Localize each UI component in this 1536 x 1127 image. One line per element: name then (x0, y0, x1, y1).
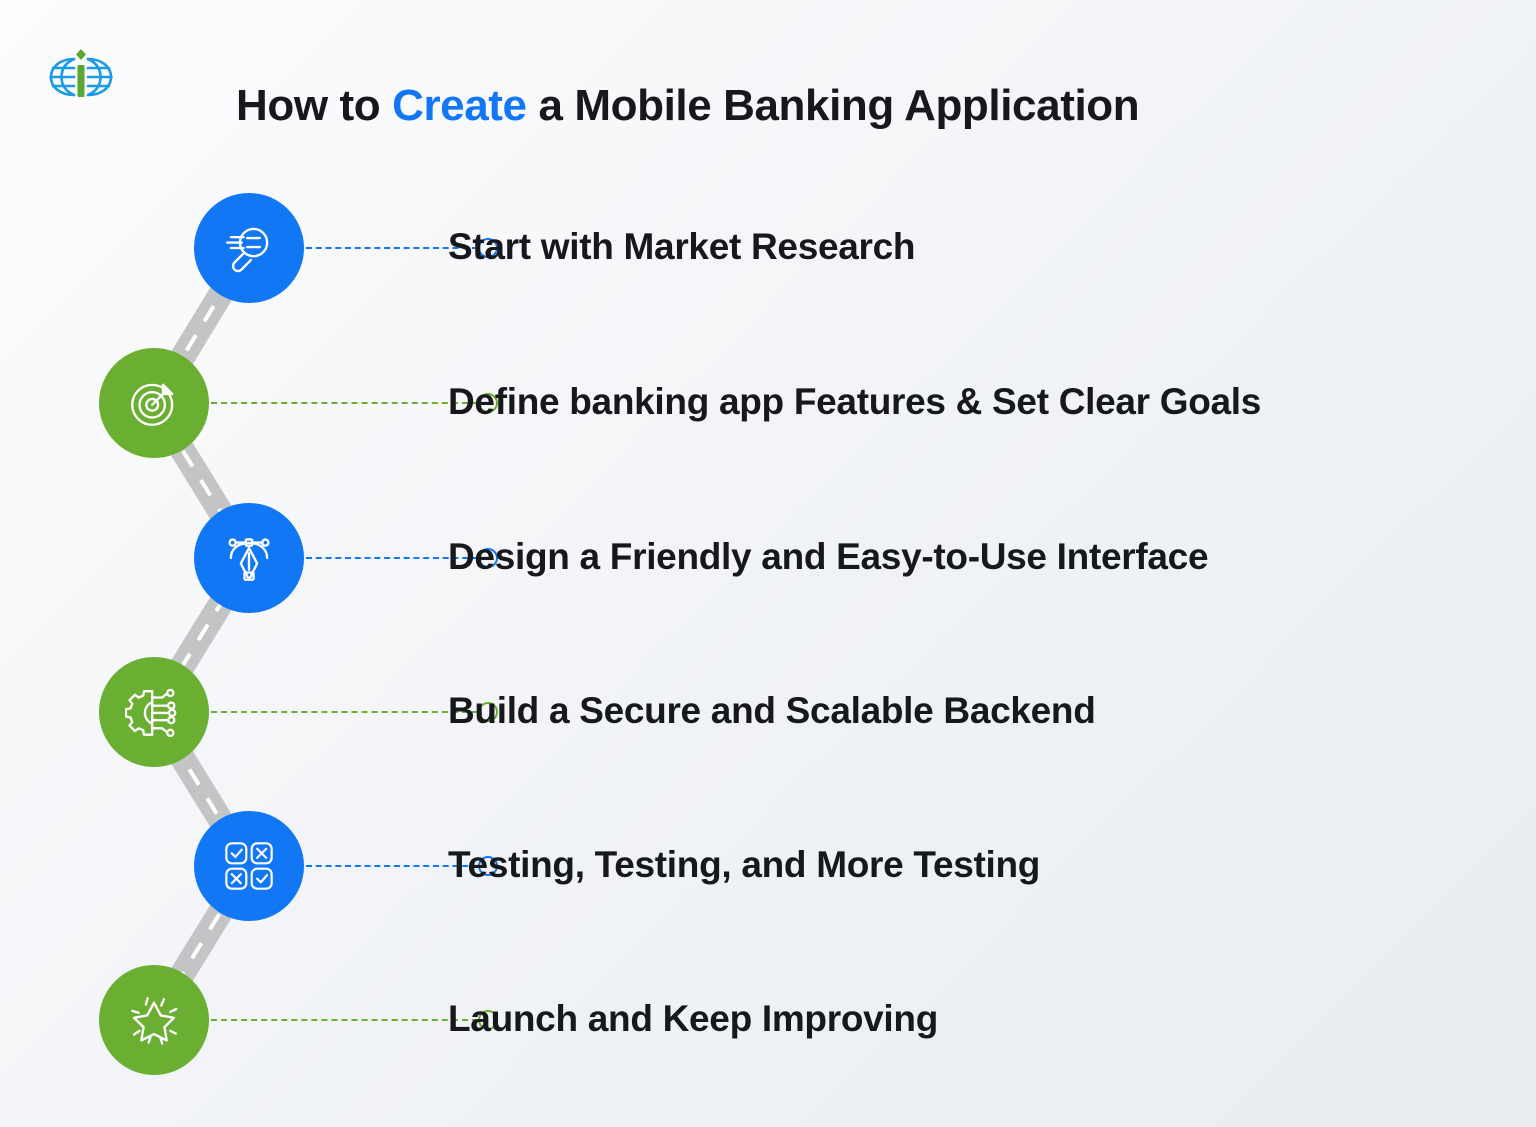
step-icon-bubble-2[interactable] (99, 348, 209, 458)
check-cross-grid-icon (220, 837, 278, 895)
header: How to Create a Mobile Banking Applicati… (0, 0, 1536, 150)
globe-i-logo-icon (44, 43, 116, 111)
step-connector-4 (211, 711, 478, 713)
connector-dash-6 (211, 1019, 478, 1021)
title-suffix: a Mobile Banking Application (527, 81, 1140, 130)
target-dart-icon (125, 374, 183, 432)
sparkle-star-icon (125, 991, 183, 1049)
page-title: How to Create a Mobile Banking Applicati… (236, 77, 1316, 135)
step-label-4: Build a Secure and Scalable Backend (448, 685, 1096, 737)
step-icon-bubble-5[interactable] (194, 811, 304, 921)
connector-dash-2 (211, 402, 478, 404)
gear-circuit-icon (125, 683, 183, 741)
step-label-6: Launch and Keep Improving (448, 993, 938, 1045)
step-connector-6 (211, 1019, 478, 1021)
step-icon-bubble-1[interactable] (194, 193, 304, 303)
title-prefix: How to (236, 81, 392, 130)
step-label-5: Testing, Testing, and More Testing (448, 839, 1040, 891)
step-icon-bubble-4[interactable] (99, 657, 209, 767)
infographic-page: How to Create a Mobile Banking Applicati… (0, 0, 1536, 1127)
connector-dash-4 (211, 711, 478, 713)
step-label-2: Define banking app Features & Set Clear … (448, 376, 1261, 428)
step-label-1: Start with Market Research (448, 221, 915, 273)
title-accent: Create (392, 81, 527, 130)
step-label-3: Design a Friendly and Easy-to-Use Interf… (448, 531, 1208, 583)
magnifier-analysis-icon (220, 219, 278, 277)
step-connector-2 (211, 402, 478, 404)
pen-tool-icon (220, 529, 278, 587)
step-icon-bubble-6[interactable] (99, 965, 209, 1075)
step-icon-bubble-3[interactable] (194, 503, 304, 613)
